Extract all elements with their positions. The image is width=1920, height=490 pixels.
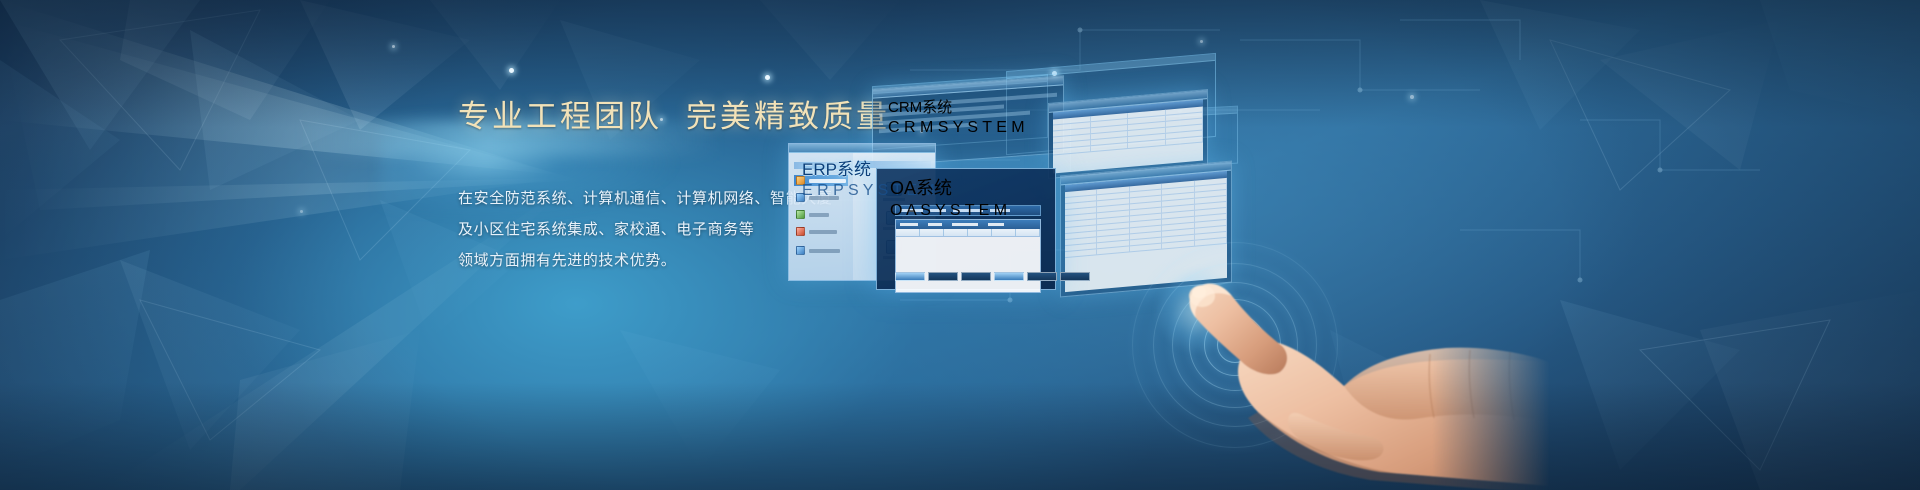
oa-action-button[interactable] (994, 272, 1024, 281)
window-label-oa: OA系统 (890, 174, 1007, 200)
oa-action-button[interactable] (928, 272, 958, 281)
erp-nav-item[interactable] (794, 209, 848, 220)
oa-action-button[interactable] (1027, 272, 1057, 281)
erp-nav-item[interactable] (794, 226, 848, 237)
window-sublabel-oa: O A S Y S T E M (890, 202, 1007, 220)
crm-label-wrap: CRM系统 C R M S Y S T E M (888, 96, 1025, 137)
oa-action-button[interactable] (1060, 272, 1090, 281)
window-titlebar-erp (789, 144, 935, 153)
settings-icon (796, 246, 805, 255)
oa-label-wrap: OA系统 O A S Y S T E M (890, 174, 1007, 220)
oa-action-button[interactable] (895, 272, 925, 281)
oa-grid-header (896, 220, 1040, 229)
erp-nav-item[interactable] (794, 245, 848, 256)
window-sublabel-crm: C R M S Y S T E M (888, 119, 1025, 137)
window-label-crm: CRM系统 (888, 96, 1025, 117)
list-icon (796, 210, 805, 219)
oa-grid-columns (896, 229, 1040, 237)
data-grid-body (1053, 99, 1203, 173)
oa-data-grid[interactable] (895, 219, 1041, 293)
oa-action-button[interactable] (961, 272, 991, 281)
hero-banner: 专业工程团队完美精致质量 在安全防范系统、计算机通信、计算机网络、智能大厦 及小… (0, 0, 1920, 490)
oa-button-row[interactable] (895, 272, 1095, 281)
hand-pointing-finger (1130, 236, 1550, 490)
report-icon (796, 227, 805, 236)
headline-segment-1: 专业工程团队 (458, 99, 662, 134)
